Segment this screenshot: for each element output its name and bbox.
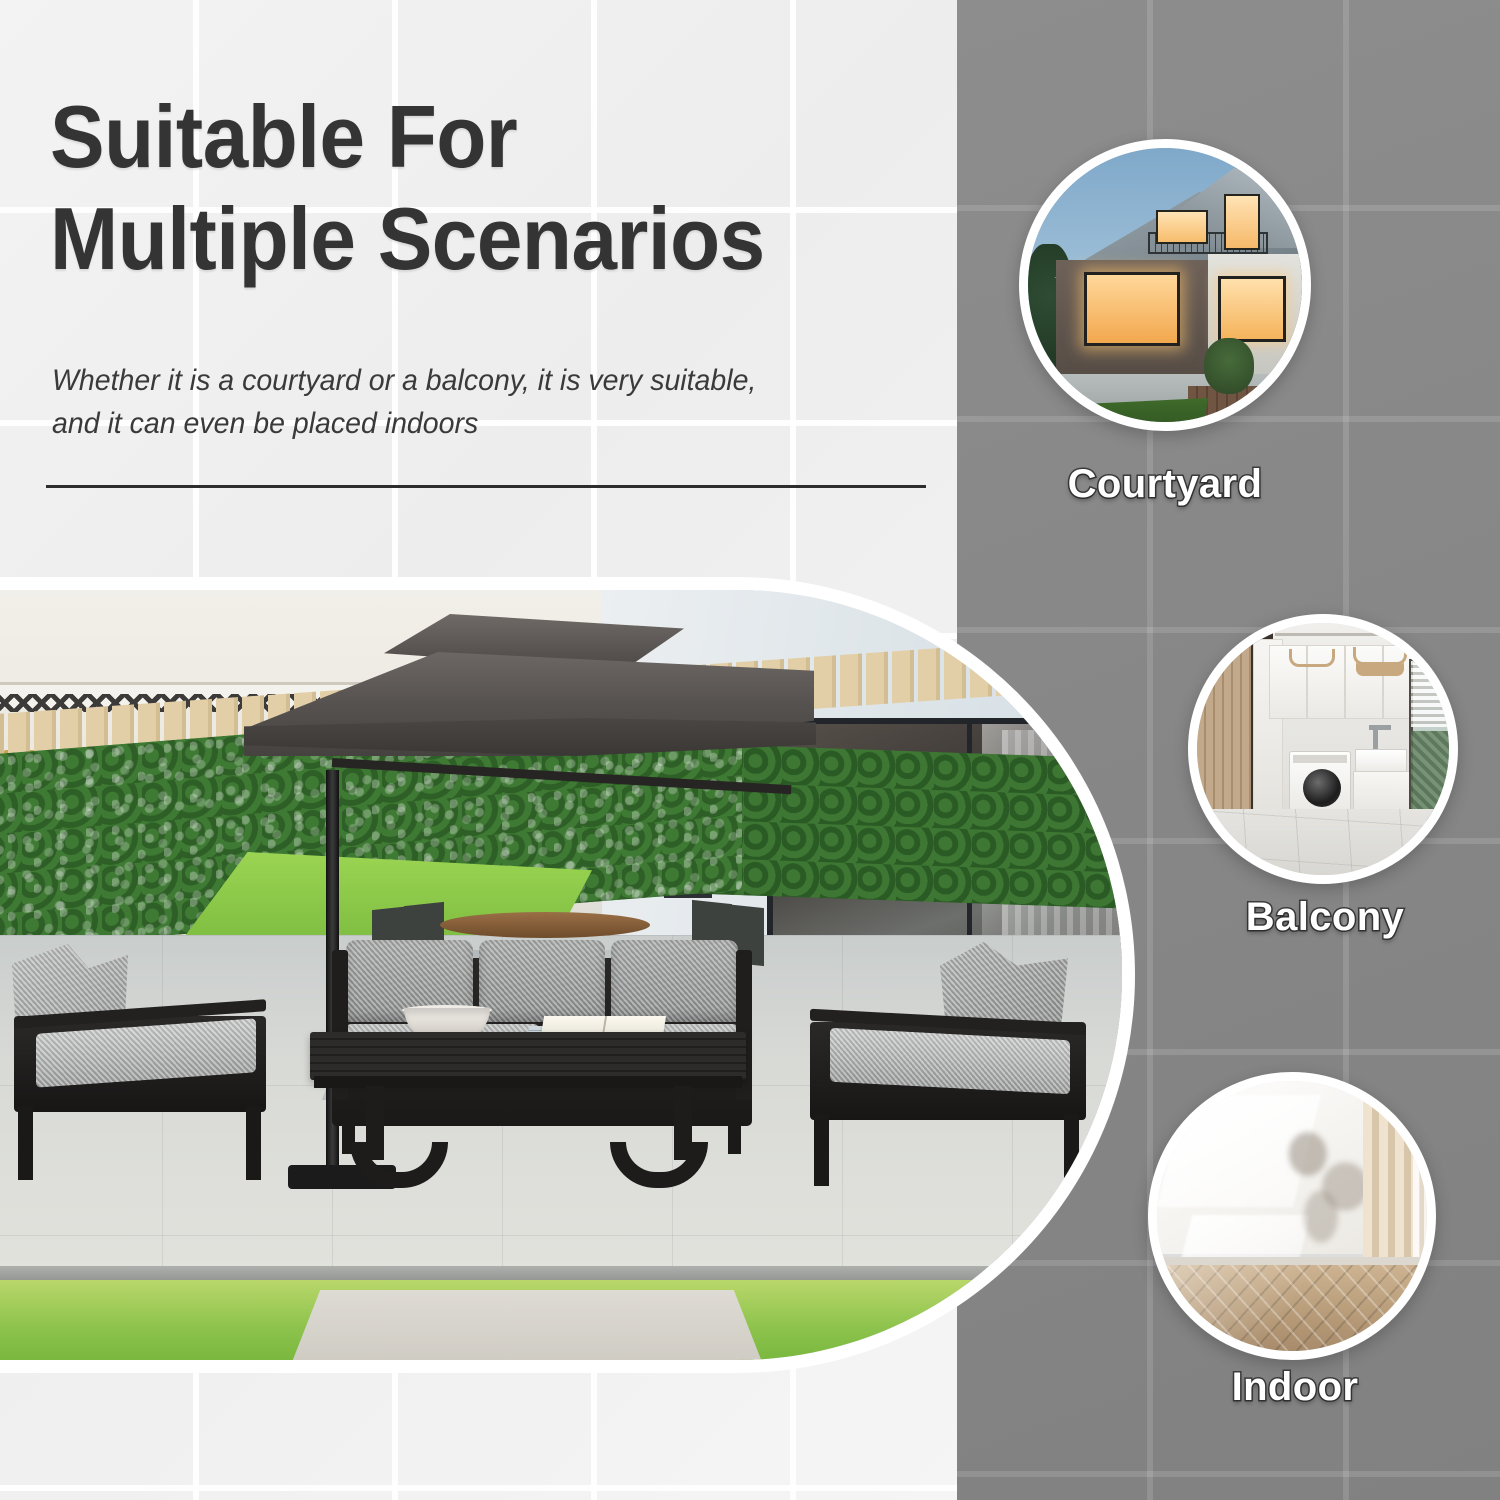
header-divider	[46, 485, 926, 488]
hero-walkway-slab	[292, 1290, 762, 1360]
hero-background-dining-table	[440, 912, 650, 938]
coffee-table-foot	[610, 1142, 708, 1188]
hero-artwork	[0, 590, 1122, 1360]
page-title: Suitable For Multiple Scenarios	[50, 86, 868, 290]
scenario-label-courtyard: Courtyard	[1000, 462, 1330, 507]
coffee-table-top	[310, 1032, 746, 1080]
outdoor-armchair-right	[802, 936, 1102, 1186]
balcony-sink	[1355, 749, 1407, 773]
page-subtitle: Whether it is a courtyard or a balcony, …	[52, 360, 898, 445]
scenario-image-indoor	[1148, 1072, 1436, 1360]
washing-machine-control-panel	[1293, 755, 1347, 763]
balcony-tile-floor	[1197, 809, 1449, 884]
clothes-hanger-icon	[1353, 647, 1407, 665]
washing-machine-door	[1303, 769, 1341, 807]
courtyard-main-window-lit	[1084, 272, 1180, 346]
courtyard-upper-window-lit	[1156, 210, 1208, 244]
scenario-label-balcony: Balcony	[1170, 895, 1480, 940]
balcony-hanger-rod	[1275, 633, 1415, 636]
hero-image-patio-scene	[0, 590, 1122, 1360]
armchair-right-leg	[814, 1114, 829, 1186]
scenario-label-indoor: Indoor	[1130, 1365, 1460, 1410]
outdoor-coffee-table	[310, 1032, 746, 1212]
outdoor-armchair-left	[0, 930, 278, 1180]
indoor-floor-light	[1157, 1265, 1319, 1360]
courtyard-side-window-lit	[1218, 276, 1286, 342]
armchair-left-leg	[18, 1106, 33, 1180]
sofa-back-cushion	[611, 940, 738, 1022]
courtyard-upper-window-lit	[1224, 194, 1260, 250]
scenario-image-balcony	[1188, 614, 1458, 884]
courtyard-shrub	[1204, 338, 1254, 394]
balcony-faucet	[1373, 727, 1378, 751]
armchair-right-leg	[1064, 1114, 1079, 1186]
balcony-wood-panel-wall	[1197, 623, 1257, 813]
armchair-left-leg	[246, 1106, 261, 1180]
clothes-hanger-icon	[1289, 649, 1335, 667]
promo-banner: Suitable For Multiple Scenarios Whether …	[0, 0, 1500, 1500]
coffee-table-foot	[350, 1142, 448, 1188]
sofa-back-cushion	[479, 940, 606, 1022]
scenario-image-courtyard	[1019, 139, 1311, 431]
